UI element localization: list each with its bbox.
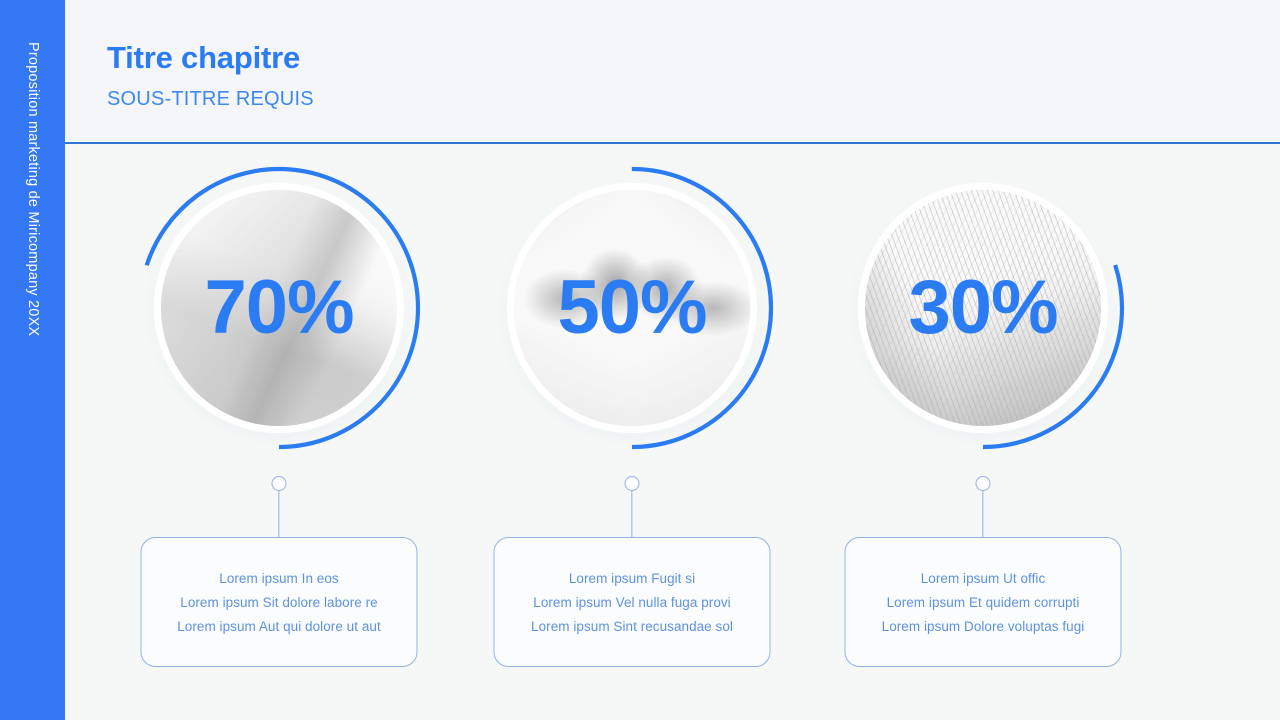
sidebar-rail-label: Proposition marketing de Miricompany 20X…: [25, 42, 41, 336]
stat-circle[interactable]: 30%: [840, 165, 1126, 451]
stat-card[interactable]: Lorem ipsum In eos Lorem ipsum Sit dolor…: [141, 537, 418, 667]
stat-circle[interactable]: 50%: [489, 165, 775, 451]
stat-card-line: Lorem ipsum Et quidem corrupti: [887, 595, 1080, 610]
stat-card-line: Lorem ipsum Dolore voluptas fugi: [882, 619, 1085, 634]
stat-column: 70% Lorem ipsum In eos Lorem ipsum Sit d…: [103, 143, 455, 720]
stat-percentage: 70%: [136, 165, 422, 451]
stat-card-line: Lorem ipsum Ut offic: [921, 571, 1046, 586]
stat-percentage: 50%: [489, 165, 775, 451]
stat-card-line: Lorem ipsum Sit dolore labore re: [180, 595, 377, 610]
connector-line: [631, 490, 632, 539]
connector-node: [976, 476, 991, 491]
stat-card-line: Lorem ipsum Sint recusandae sol: [531, 619, 733, 634]
stat-columns: 70% Lorem ipsum In eos Lorem ipsum Sit d…: [65, 143, 1280, 720]
stat-card-line: Lorem ipsum Aut qui dolore ut aut: [177, 619, 381, 634]
stat-column: 30% Lorem ipsum Ut offic Lorem ipsum Et …: [807, 143, 1159, 720]
stat-circle[interactable]: 70%: [136, 165, 422, 451]
stat-column: 50% Lorem ipsum Fugit si Lorem ipsum Vel…: [456, 143, 808, 720]
connector-node: [625, 476, 640, 491]
sidebar-rail: Proposition marketing de Miricompany 20X…: [0, 0, 65, 720]
stat-card-line: Lorem ipsum In eos: [219, 571, 338, 586]
stat-card[interactable]: Lorem ipsum Fugit si Lorem ipsum Vel nul…: [494, 537, 771, 667]
stat-card[interactable]: Lorem ipsum Ut offic Lorem ipsum Et quid…: [845, 537, 1122, 667]
stat-card-line: Lorem ipsum Fugit si: [569, 571, 695, 586]
slide-root: Proposition marketing de Miricompany 20X…: [0, 0, 1280, 720]
stat-percentage: 30%: [840, 165, 1126, 451]
stat-card-line: Lorem ipsum Vel nulla fuga provi: [533, 595, 730, 610]
page-title: Titre chapitre: [107, 40, 300, 76]
connector-line: [278, 490, 279, 539]
connector-line: [982, 490, 983, 539]
slide-header: Titre chapitre SOUS-TITRE REQUIS: [65, 0, 1280, 143]
connector-node: [272, 476, 287, 491]
page-subtitle: SOUS-TITRE REQUIS: [107, 88, 314, 111]
